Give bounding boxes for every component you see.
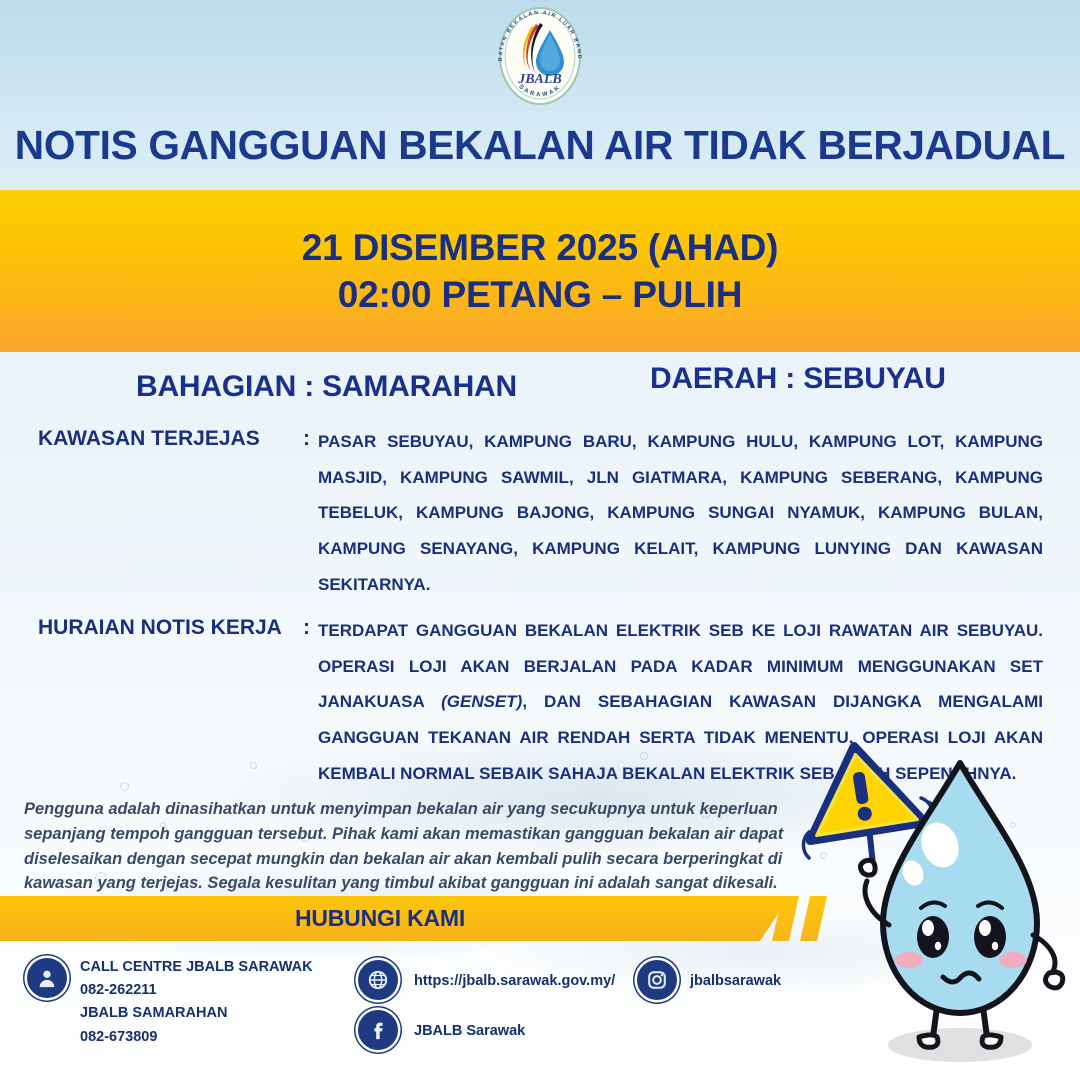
notice-time: 02:00 PETANG – PULIH <box>338 271 742 318</box>
contact-banner-label: HUBUNGI KAMI <box>0 896 760 941</box>
globe-icon <box>358 960 398 1000</box>
affected-areas-label: KAWASAN TERJEJAS <box>38 427 288 451</box>
affected-areas-value: PASAR SEBUYAU, KAMPUNG BARU, KAMPUNG HUL… <box>318 424 1043 602</box>
bahagian-label: BAHAGIAN : SAMARAHAN <box>136 370 517 404</box>
facebook-text[interactable]: JBALB Sarawak <box>414 1020 525 1043</box>
notice-body: BAHAGIAN : SAMARAHAN DAERAH : SEBUYAU KA… <box>0 352 1080 803</box>
instagram-text[interactable]: jbalbsarawak <box>690 970 781 993</box>
date-time-band: 21 DISEMBER 2025 (AHAD) 02:00 PETANG – P… <box>0 190 1080 352</box>
contact-list: CALL CENTRE JBALB SARAWAK 082-262211 JBA… <box>0 948 1080 1080</box>
daerah-label: DAERAH : SEBUYAU <box>650 362 946 396</box>
person-icon <box>27 958 67 998</box>
advisory-note: Pengguna adalah dinasihatkan untuk menyi… <box>24 797 784 896</box>
contact-banner: HUBUNGI KAMI <box>0 896 1080 941</box>
facebook-icon <box>358 1010 398 1050</box>
poster-root: JBALB JABATAN BEKALAN AIR LUAR BANDAR SA… <box>0 0 1080 1080</box>
work-description-colon: : <box>303 616 310 640</box>
work-description-genset: (GENSET) <box>441 692 522 711</box>
work-description-label: HURAIAN NOTIS KERJA <box>38 616 288 640</box>
page-title-text: NOTIS GANGGUAN BEKALAN AIR TIDAK BERJADU… <box>5 122 1074 169</box>
website-text[interactable]: https://jbalb.sarawak.gov.my/ <box>414 970 615 993</box>
affected-areas-colon: : <box>303 427 310 451</box>
region-row: BAHAGIAN : SAMARAHAN DAERAH : SEBUYAU <box>0 352 1080 414</box>
header-banner: JBALB JABATAN BEKALAN AIR LUAR BANDAR SA… <box>0 0 1080 190</box>
field-affected-areas: KAWASAN TERJEJAS : PASAR SEBUYAU, KAMPUN… <box>0 424 1080 609</box>
jbalb-logo: JBALB JABATAN BEKALAN AIR LUAR BANDAR SA… <box>492 4 588 108</box>
page-title: NOTIS GANGGUAN BEKALAN AIR TIDAK BERJADU… <box>0 122 1080 169</box>
call-centre-text[interactable]: CALL CENTRE JBALB SARAWAK 082-262211 JBA… <box>80 956 313 1049</box>
logo-acronym: JBALB <box>517 72 562 87</box>
notice-date: 21 DISEMBER 2025 (AHAD) <box>302 224 779 271</box>
instagram-icon <box>637 960 677 1000</box>
banner-stripe-2 <box>800 896 828 941</box>
